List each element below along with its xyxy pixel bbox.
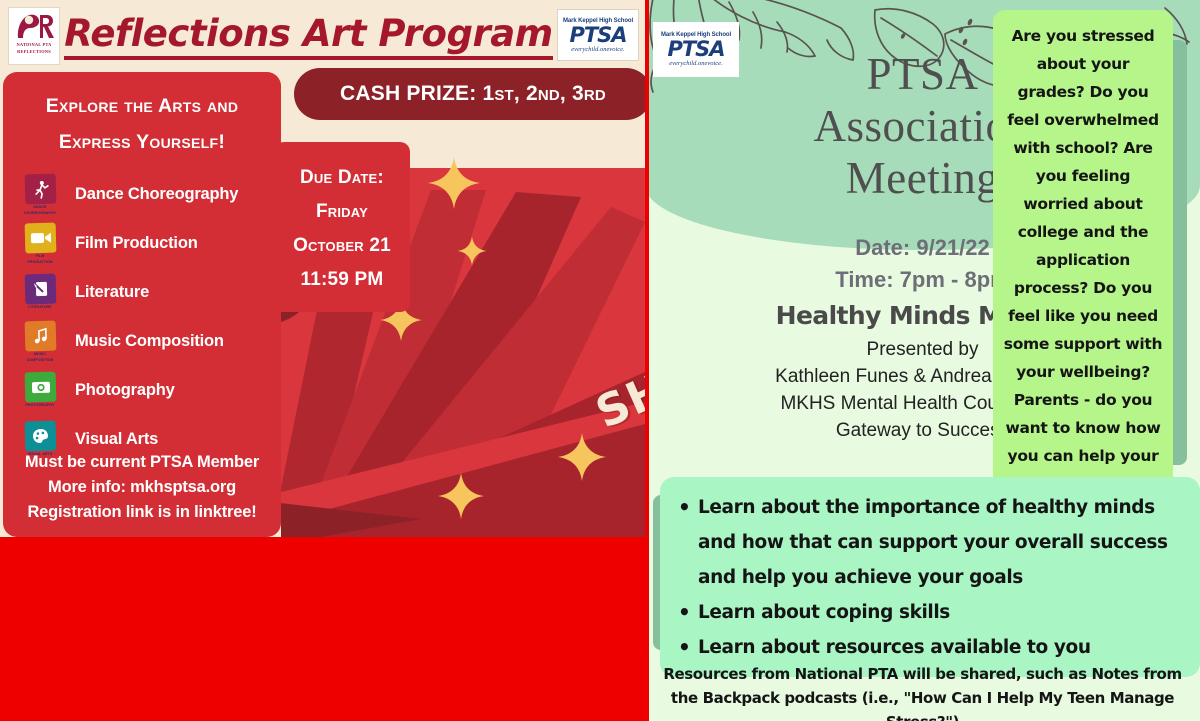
explore-heading: Explore the Arts and Express Yourself! (3, 72, 281, 164)
sparkle-star-icon (437, 472, 485, 520)
cash-prize-label: CASH PRIZE: 1st, 2nd, 3rd (340, 82, 606, 106)
due-date-card: Due Date: Friday October 21 11:59 PM (274, 142, 410, 312)
category-item-dance: DANCE CHOREOGRAPHY Dance Choreography (21, 170, 281, 219)
reflections-logo-line2: REFLECTIONS (17, 49, 51, 55)
explore-footer: Must be current PTSA Member More info: m… (3, 450, 281, 525)
mkhs-ptsa-logo-left: Mark Keppel High School PTSA everychild.… (557, 9, 639, 61)
reflections-logo-line1: NATIONAL PTA (16, 42, 51, 48)
book-pen-icon (24, 274, 56, 305)
category-label-photography: Photography (75, 381, 175, 400)
category-item-photography: PHOTOGRAPHY Photography (21, 366, 281, 415)
category-item-film: FILM PRODUCTION Film Production (21, 219, 281, 268)
list-item: Learn about the importance of healthy mi… (674, 490, 1182, 595)
film-caption-1: FILM (36, 254, 45, 258)
list-item: Learn about coping skills (674, 595, 1182, 630)
photography-caption-1: PHOTOGRAPHY (25, 403, 54, 407)
category-label-music: Music Composition (75, 332, 224, 351)
sparkle-star-icon (557, 432, 607, 482)
sparkle-star-icon (457, 236, 487, 266)
learning-outcomes-list: Learn about the importance of healthy mi… (674, 490, 1182, 665)
national-pta-reflections-logo: NATIONAL PTA REFLECTIONS (8, 7, 60, 65)
reflections-header: NATIONAL PTA REFLECTIONS Reflections Art… (0, 0, 645, 70)
learning-outcomes-box: Learn about the importance of healthy mi… (660, 477, 1200, 677)
category-label-film: Film Production (75, 234, 198, 253)
literature-caption-1: LITERATURE (28, 305, 52, 309)
film-caption-2: PRODUCTION (27, 260, 52, 264)
dance-caption-2: CHOREOGRAPHY (24, 211, 56, 215)
explore-heading-line2: Express Yourself! (17, 124, 267, 160)
page-title: Reflections Art Program (64, 12, 552, 60)
palette-icon (24, 421, 56, 452)
category-item-literature: LITERATURE Literature (21, 268, 281, 317)
explore-arts-card: Explore the Arts and Express Yourself! D… (3, 72, 281, 537)
category-label-literature: Literature (75, 283, 149, 302)
reflections-poster: NATIONAL PTA REFLECTIONS Reflections Art… (0, 0, 645, 721)
more-info-link[interactable]: More info: mkhsptsa.org (3, 475, 281, 500)
music-caption-1: MUSIC (34, 352, 46, 356)
list-item: Learn about resources available to you (674, 630, 1182, 665)
due-date-line-3: October 21 (293, 229, 391, 263)
book-pen-icon-wrap: LITERATURE (21, 274, 59, 310)
video-camera-icon-wrap: FILM PRODUCTION (21, 223, 59, 264)
membership-requirement: Must be current PTSA Member (3, 450, 281, 475)
explore-heading-line1: Explore the Arts and (17, 88, 267, 124)
music-note-icon-wrap: MUSIC COMPOSITION (21, 321, 59, 362)
reflections-title-wrap: Reflections Art Program (60, 12, 557, 60)
bottom-red-slab (0, 537, 645, 721)
dancer-icon-wrap: DANCE CHOREOGRAPHY (21, 174, 59, 215)
due-date-line-1: Due Date: (300, 161, 384, 195)
video-camera-icon (24, 223, 56, 254)
mkhs-logo-ptsa-text: PTSA (569, 24, 626, 46)
camera-icon (24, 372, 56, 403)
question-box-shadow (1173, 40, 1187, 465)
camera-icon-wrap: PHOTOGRAPHY (21, 372, 59, 408)
category-item-music: MUSIC COMPOSITION Music Composition (21, 317, 281, 366)
registration-note: Registration link is in linktree! (3, 500, 281, 525)
dancer-icon (24, 174, 56, 205)
music-caption-2: COMPOSITION (27, 358, 54, 362)
due-date-line-2: Friday (316, 195, 368, 229)
cash-prize-banner: CASH PRIZE: 1st, 2nd, 3rd (294, 68, 645, 120)
music-note-icon (24, 321, 56, 352)
category-label-visual-arts: Visual Arts (75, 430, 158, 449)
due-date-line-4: 11:59 PM (301, 263, 384, 297)
ptsa-meeting-poster: Mark Keppel High School PTSA everychild.… (645, 0, 1200, 721)
question-callout-text: Are you stressed about your grades? Do y… (1001, 22, 1165, 554)
sparkle-star-icon (427, 156, 481, 210)
mkhs-logo-tagline: everychild.onevoice. (571, 46, 624, 53)
resources-footer-text: Resources from National PTA will be shar… (651, 662, 1194, 721)
poster-canvas: NATIONAL PTA REFLECTIONS Reflections Art… (0, 0, 1200, 721)
reflections-mark-icon (14, 11, 54, 41)
dance-caption-1: DANCE (33, 205, 46, 209)
category-list: DANCE CHOREOGRAPHY Dance Choreography FI… (3, 170, 281, 464)
category-label-dance: Dance Choreography (75, 185, 238, 204)
resources-footer: Resources from National PTA will be shar… (645, 662, 1200, 721)
